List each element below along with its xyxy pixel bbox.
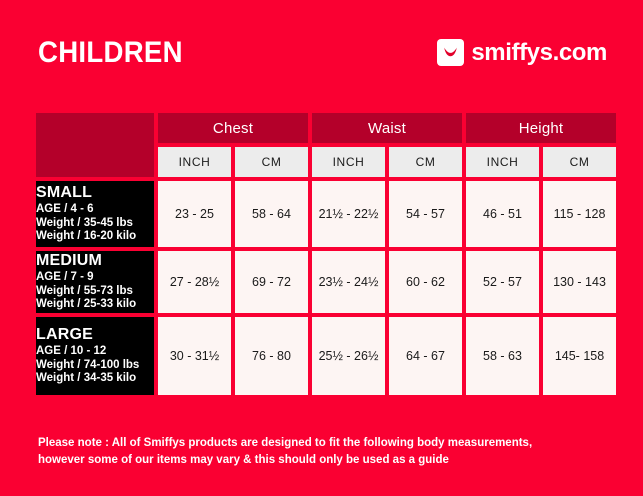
cell-medium-waist-cm: 60 - 62 (389, 251, 462, 313)
size-label-medium: MEDIUM AGE / 7 - 9 Weight / 55-73 lbs We… (36, 251, 154, 313)
size-label-small: SMALL AGE / 4 - 6 Weight / 35-45 lbs Wei… (36, 181, 154, 247)
table-row: SMALL AGE / 4 - 6 Weight / 35-45 lbs Wei… (36, 181, 616, 247)
size-detail-weight-lbs: Weight / 35-45 lbs (36, 217, 154, 230)
unit-header-height-inch: INCH (466, 147, 539, 177)
cell-large-waist-cm: 64 - 67 (389, 317, 462, 395)
unit-header-height-cm: CM (543, 147, 616, 177)
size-detail-age: AGE / 7 - 9 (36, 271, 154, 284)
size-label-large: LARGE AGE / 10 - 12 Weight / 74-100 lbs … (36, 317, 154, 395)
cell-small-chest-inch: 23 - 25 (158, 181, 231, 247)
size-detail-weight-kilo: Weight / 34-35 kilo (36, 372, 154, 385)
size-detail-weight-lbs: Weight / 74-100 lbs (36, 359, 154, 372)
size-chart-table: Chest Waist Height INCH CM INCH CM INCH … (32, 109, 620, 399)
page-header: CHILDREN smiffys.com (0, 0, 643, 105)
cell-small-chest-cm: 58 - 64 (235, 181, 308, 247)
corner-cell (36, 113, 154, 177)
cell-large-height-cm: 145- 158 (543, 317, 616, 395)
cell-small-height-cm: 115 - 128 (543, 181, 616, 247)
size-name: LARGE (36, 326, 154, 345)
footnote-line-1: Please note : All of Smiffys products ar… (38, 435, 614, 452)
table-row: LARGE AGE / 10 - 12 Weight / 74-100 lbs … (36, 317, 616, 395)
cell-small-waist-cm: 54 - 57 (389, 181, 462, 247)
cell-medium-height-inch: 52 - 57 (466, 251, 539, 313)
footnote: Please note : All of Smiffys products ar… (38, 435, 614, 468)
cell-large-chest-inch: 30 - 31½ (158, 317, 231, 395)
size-detail-age: AGE / 4 - 6 (36, 203, 154, 216)
unit-header-waist-inch: INCH (312, 147, 385, 177)
column-group-chest: Chest (158, 113, 308, 143)
cell-medium-chest-inch: 27 - 28½ (158, 251, 231, 313)
cell-large-height-inch: 58 - 63 (466, 317, 539, 395)
brand-logo: smiffys.com (437, 39, 607, 66)
table-group-header-row: Chest Waist Height (36, 113, 616, 143)
cell-small-height-inch: 46 - 51 (466, 181, 539, 247)
cell-small-waist-inch: 21½ - 22½ (312, 181, 385, 247)
column-group-waist: Waist (312, 113, 462, 143)
cell-medium-height-cm: 130 - 143 (543, 251, 616, 313)
size-name: MEDIUM (36, 252, 154, 271)
table-row: MEDIUM AGE / 7 - 9 Weight / 55-73 lbs We… (36, 251, 616, 313)
column-group-height: Height (466, 113, 616, 143)
size-detail-weight-kilo: Weight / 16-20 kilo (36, 230, 154, 243)
cell-medium-waist-inch: 23½ - 24½ (312, 251, 385, 313)
cell-large-chest-cm: 76 - 80 (235, 317, 308, 395)
cell-medium-chest-cm: 69 - 72 (235, 251, 308, 313)
brand-name: smiffys.com (471, 41, 607, 65)
size-detail-weight-lbs: Weight / 55-73 lbs (36, 285, 154, 298)
cell-large-waist-inch: 25½ - 26½ (312, 317, 385, 395)
size-chart-page: CHILDREN smiffys.com Chest Waist Height (0, 0, 643, 496)
page-title: CHILDREN (38, 38, 183, 68)
footnote-line-2: however some of our items may vary & thi… (38, 452, 614, 469)
size-detail-age: AGE / 10 - 12 (36, 345, 154, 358)
unit-header-chest-cm: CM (235, 147, 308, 177)
unit-header-waist-cm: CM (389, 147, 462, 177)
size-detail-weight-kilo: Weight / 25-33 kilo (36, 298, 154, 311)
smile-logo-icon (437, 39, 464, 66)
size-name: SMALL (36, 184, 154, 203)
unit-header-chest-inch: INCH (158, 147, 231, 177)
